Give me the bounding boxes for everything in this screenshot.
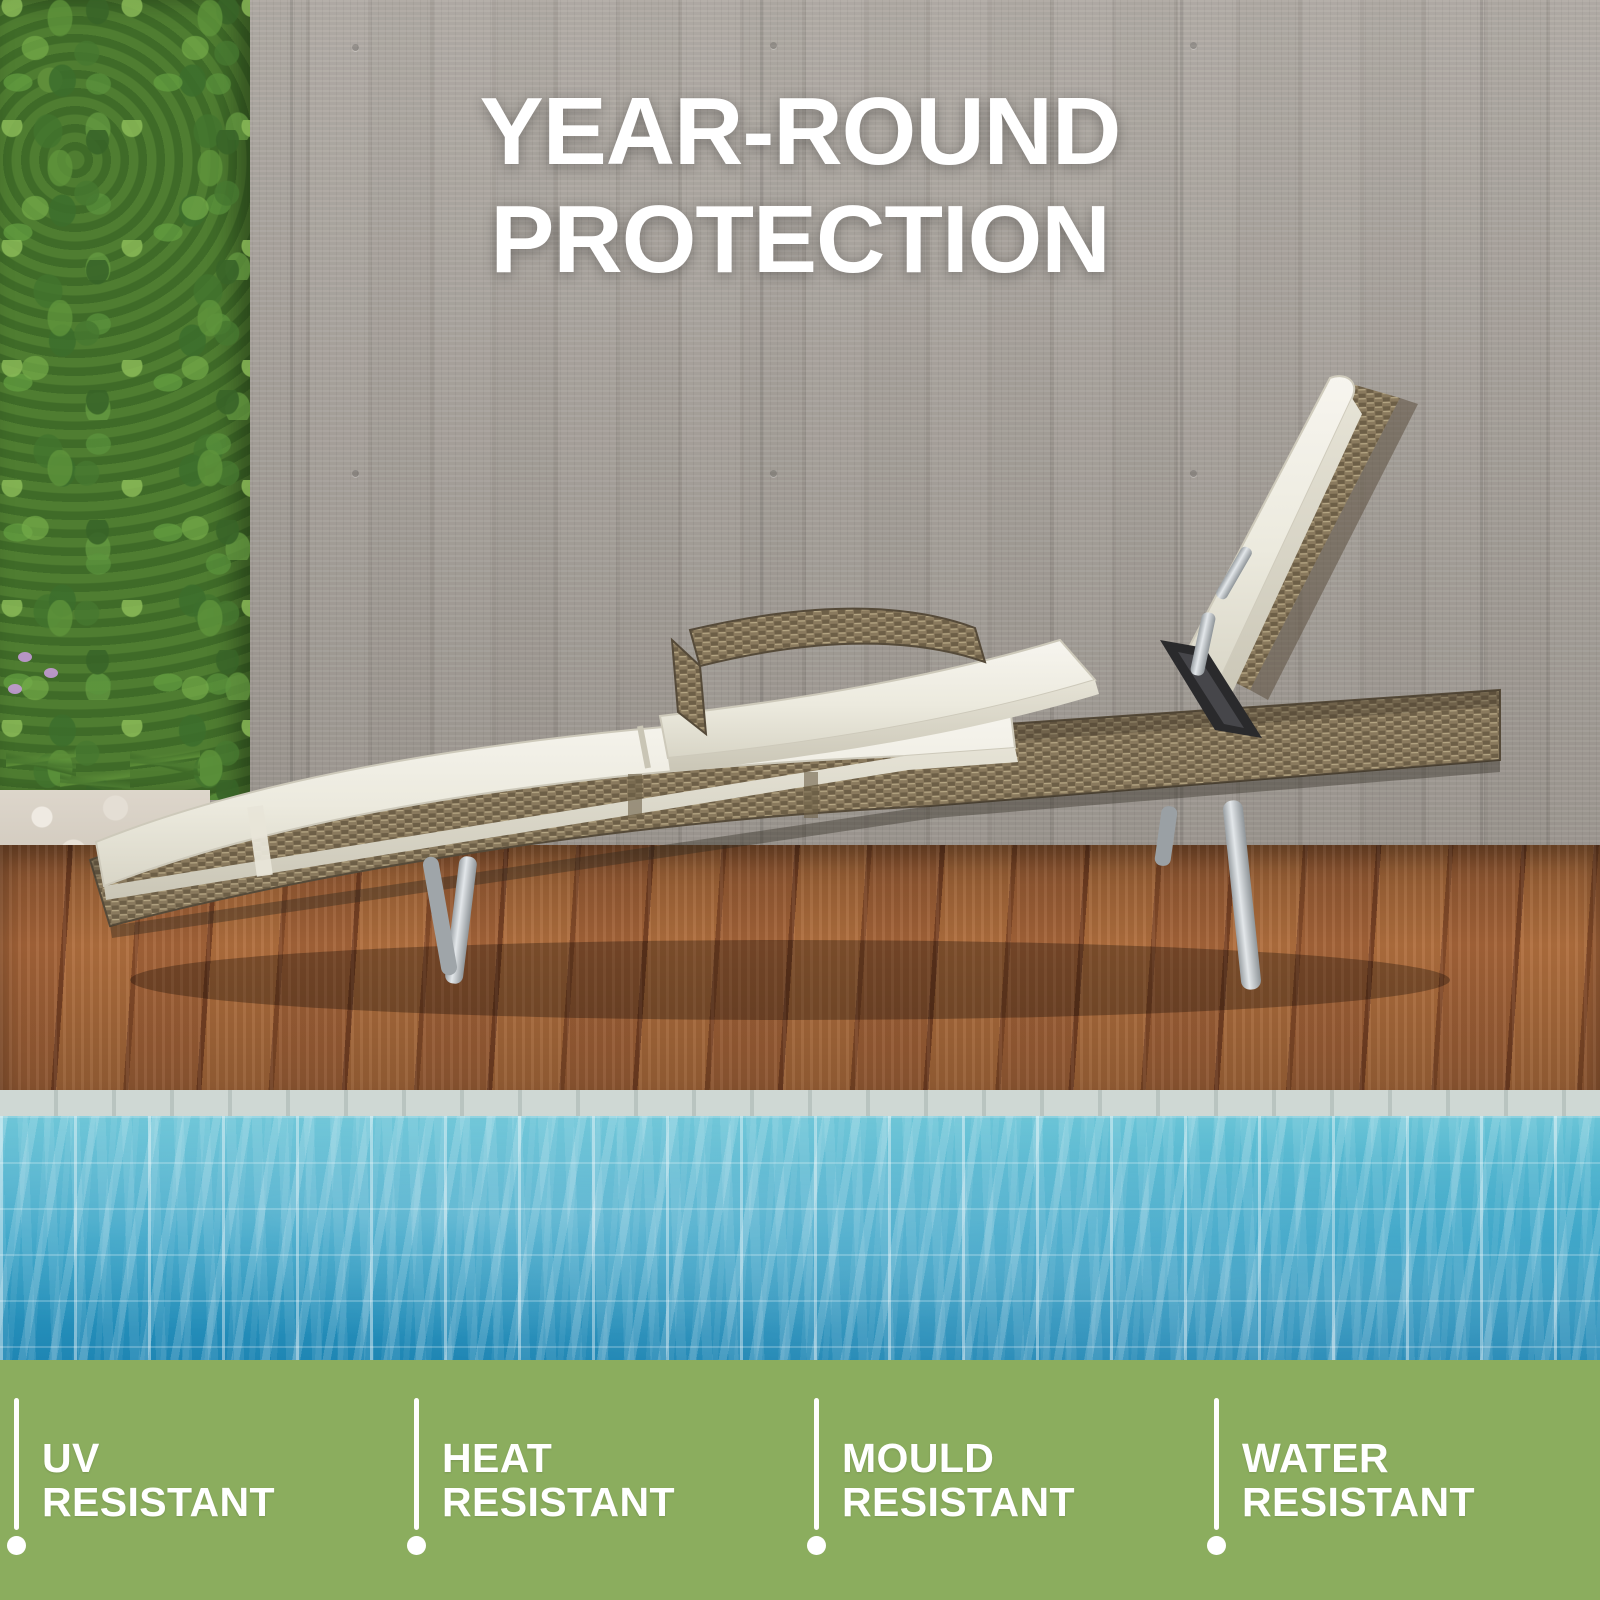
- feature-dot-icon: [807, 1536, 826, 1555]
- feature-item-mould: MOULD RESISTANT: [800, 1360, 1200, 1600]
- feature-item-uv: UV RESISTANT: [0, 1360, 400, 1600]
- feature-water-line2: RESISTANT: [1242, 1480, 1475, 1524]
- feature-heat-line1: HEAT: [442, 1436, 675, 1480]
- feature-divider-icon: [414, 1398, 419, 1530]
- feature-divider-icon: [1214, 1398, 1219, 1530]
- pool-coping: [0, 1090, 1600, 1116]
- feature-label-uv: UV RESISTANT: [42, 1436, 275, 1525]
- page-title: YEAR-ROUND PROTECTION: [0, 78, 1600, 293]
- headline-line-2: PROTECTION: [120, 186, 1480, 294]
- product-scene: YEAR-ROUND PROTECTION: [0, 0, 1600, 1090]
- feature-mould-line2: RESISTANT: [842, 1480, 1075, 1524]
- feature-divider-icon: [14, 1398, 19, 1530]
- feature-label-heat: HEAT RESISTANT: [442, 1436, 675, 1525]
- feature-item-heat: HEAT RESISTANT: [400, 1360, 800, 1600]
- feature-dot-icon: [407, 1536, 426, 1555]
- feature-heat-line2: RESISTANT: [442, 1480, 675, 1524]
- feature-divider-icon: [814, 1398, 819, 1530]
- banner-canvas: YEAR-ROUND PROTECTION UV RESISTANT HEAT …: [0, 0, 1600, 1600]
- feature-dot-icon: [1207, 1536, 1226, 1555]
- feature-mould-line1: MOULD: [842, 1436, 1075, 1480]
- feature-item-water: WATER RESISTANT: [1200, 1360, 1600, 1600]
- feature-bar: UV RESISTANT HEAT RESISTANT MOULD RESIST…: [0, 1360, 1600, 1600]
- feature-water-line1: WATER: [1242, 1436, 1475, 1480]
- water-shimmer: [0, 1116, 1600, 1360]
- feature-dot-icon: [7, 1536, 26, 1555]
- feature-label-water: WATER RESISTANT: [1242, 1436, 1475, 1525]
- headline-line-1: YEAR-ROUND: [480, 78, 1121, 185]
- feature-uv-line2: RESISTANT: [42, 1480, 275, 1524]
- feature-label-mould: MOULD RESISTANT: [842, 1436, 1075, 1525]
- pool-water: [0, 1090, 1600, 1360]
- feature-uv-line1: UV: [42, 1436, 275, 1480]
